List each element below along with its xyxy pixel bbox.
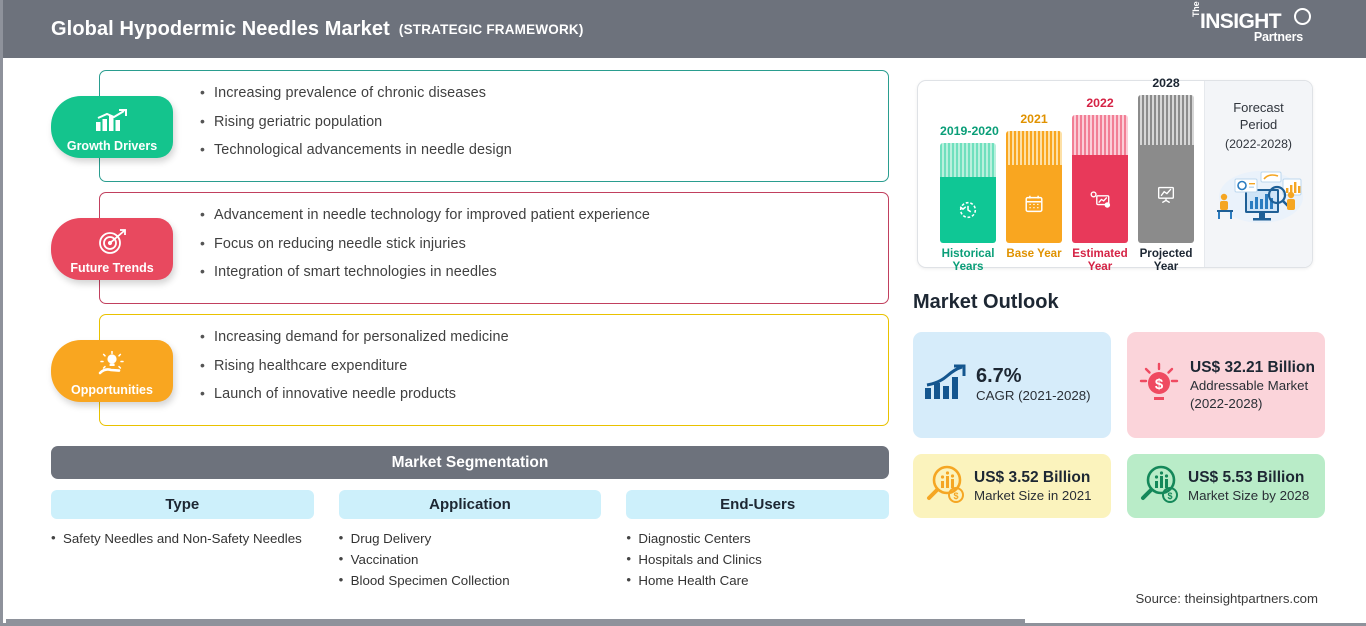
outlook-value: 6.7% [976,365,1091,387]
forecast-caption: Historical Years [940,247,996,273]
outlook-card-market-size-2021: $ US$ 3.52 Billion Market Size in 2021 [913,454,1111,518]
forecast-caption: Base Year [1006,247,1062,260]
future-trends-bullets: Advancement in needle technology for imp… [200,207,888,280]
growth-drivers-bullets: Increasing prevalence of chronic disease… [200,85,888,158]
forecast-year: 2028 [1138,76,1194,90]
page-title: Global Hypodermic Needles Market [51,18,390,41]
segment-title: Application [339,490,602,519]
forecast-year: 2019-2020 [940,124,996,138]
forecast-title-line2: Period [1205,116,1312,133]
framework-column: Increasing prevalence of chronic disease… [3,58,903,436]
list-item: Focus on reducing needle stick injuries [200,236,888,252]
segment-title: End-Users [626,490,889,519]
bar-chart-arrow-icon [923,364,967,407]
svg-text:$: $ [953,491,958,501]
svg-text:$: $ [1155,376,1164,393]
badge-growth-drivers[interactable]: Growth Drivers [51,96,173,158]
list-item: Technological advancements in needle des… [200,142,888,158]
outlook-card-market-size-2028: $ US$ 5.53 Billion Market Size by 2028 [1127,454,1325,518]
presentation-chart-icon [1138,145,1194,243]
badge-opportunities[interactable]: Opportunities [51,340,173,402]
segmentation-heading: Market Segmentation [51,446,889,479]
forecast-year: 2021 [1006,112,1062,126]
list-item: Vaccination [339,550,602,570]
forecast-bar-historical: 2019-2020 Historical Years [940,143,996,243]
infographic-page: Global Hypodermic Needles Market (STRATE… [0,0,1366,626]
opportunities-box: Increasing demand for personalized medic… [99,314,889,426]
data-analysis-illustration [1205,163,1312,230]
magnifier-chart-icon: $ [1137,463,1179,510]
list-item: Advancement in needle technology for imp… [200,207,888,223]
outlook-label: CAGR (2021-2028) [976,387,1091,405]
segment-item-list: Drug Delivery Vaccination Blood Specimen… [339,529,602,591]
history-clock-icon [940,177,996,243]
list-item: Home Health Care [626,571,889,591]
dollar-bulb-icon: $ [1137,361,1181,410]
bar-stripe [940,143,996,177]
framework-row-growth-drivers: Increasing prevalence of chronic disease… [3,70,903,192]
opportunities-bullets: Increasing demand for personalized medic… [200,329,888,402]
bottom-scrollbar[interactable] [6,619,1025,623]
list-item: Blood Specimen Collection [339,571,602,591]
forecast-bar-base: 2021 Base Year [1006,131,1062,243]
framework-row-future-trends: Advancement in needle technology for imp… [3,192,903,314]
forecast-period-label-panel: Forecast Period (2022-2028) [1204,81,1312,267]
list-item: Increasing prevalence of chronic disease… [200,85,888,101]
market-outlook-title: Market Outlook [913,291,1059,314]
list-item: Rising healthcare expenditure [200,358,888,374]
badge-label: Opportunities [71,384,153,397]
list-item: Diagnostic Centers [626,529,889,549]
outlook-label: Addressable Market (2022-2028) [1190,377,1315,413]
forecast-caption: Projected Year [1138,247,1194,273]
svg-text:$: $ [1167,491,1172,501]
segmentation-column-type: Type Safety Needles and Non-Safety Needl… [51,490,314,592]
market-outlook-cards: 6.7% CAGR (2021-2028) $ US$ 32.21 Billio… [913,332,1325,518]
outlook-label: Market Size in 2021 [974,487,1092,505]
segmentation-column-end-users: End-Users Diagnostic Centers Hospitals a… [626,490,889,592]
segmentation-column-application: Application Drug Delivery Vaccination Bl… [339,490,602,592]
segmentation-columns: Type Safety Needles and Non-Safety Needl… [51,490,889,592]
segment-title: Type [51,490,314,519]
calendar-icon [1006,165,1062,243]
bar-stripe [1006,131,1062,165]
list-item: Hospitals and Clinics [626,550,889,570]
forecast-bar-projected: 2028 Projected Year [1138,95,1194,243]
list-item: Rising geriatric population [200,114,888,130]
lightbulb-hand-icon [96,351,128,382]
badge-future-trends[interactable]: Future Trends [51,218,173,280]
target-icon [97,229,127,260]
page-subtitle: (STRATEGIC FRAMEWORK) [399,22,584,37]
outlook-value: US$ 3.52 Billion [974,468,1092,487]
logo-bubble-icon [1294,8,1311,25]
future-trends-box: Advancement in needle technology for imp… [99,192,889,304]
outlook-card-cagr: 6.7% CAGR (2021-2028) [913,332,1111,438]
list-item: Launch of innovative needle products [200,386,888,402]
badge-label: Future Trends [70,262,153,275]
insight-partners-logo[interactable]: The INSIGHT Partners [1191,8,1311,50]
growth-drivers-box: Increasing prevalence of chronic disease… [99,70,889,182]
forecast-bars: 2019-2020 Historical Years 2021 [930,81,1180,267]
analytics-gear-icon [1072,155,1128,243]
logo-partners-text: Partners [1254,30,1303,44]
source-attribution: Source: theinsightpartners.com [1135,591,1318,606]
forecast-bar-estimated: 2022 Estimated Year [1072,115,1128,243]
segment-item-list: Diagnostic Centers Hospitals and Clinics… [626,529,889,591]
magnifier-chart-icon: $ [923,463,965,510]
forecast-caption: Estimated Year [1072,247,1128,273]
list-item: Increasing demand for personalized medic… [200,329,888,345]
forecast-period-range: (2022-2028) [1205,137,1312,151]
list-item: Drug Delivery [339,529,602,549]
bar-stripe [1072,115,1128,155]
outlook-value: US$ 5.53 Billion [1188,468,1309,487]
outlook-value: US$ 32.21 Billion [1190,358,1315,377]
forecast-period-panel: 2019-2020 Historical Years 2021 [917,80,1313,268]
outlook-card-addressable-market: $ US$ 32.21 Billion Addressable Market (… [1127,332,1325,438]
segment-item-list: Safety Needles and Non-Safety Needles [51,529,314,549]
bar-stripe [1138,95,1194,145]
growth-chart-icon [95,109,129,138]
page-header: Global Hypodermic Needles Market (STRATE… [3,0,1366,58]
outlook-label: Market Size by 2028 [1188,487,1309,505]
framework-row-opportunities: Increasing demand for personalized medic… [3,314,903,436]
forecast-title-line1: Forecast [1205,99,1312,116]
badge-label: Growth Drivers [67,140,157,153]
forecast-year: 2022 [1072,96,1128,110]
list-item: Integration of smart technologies in nee… [200,264,888,280]
list-item: Safety Needles and Non-Safety Needles [51,529,314,549]
